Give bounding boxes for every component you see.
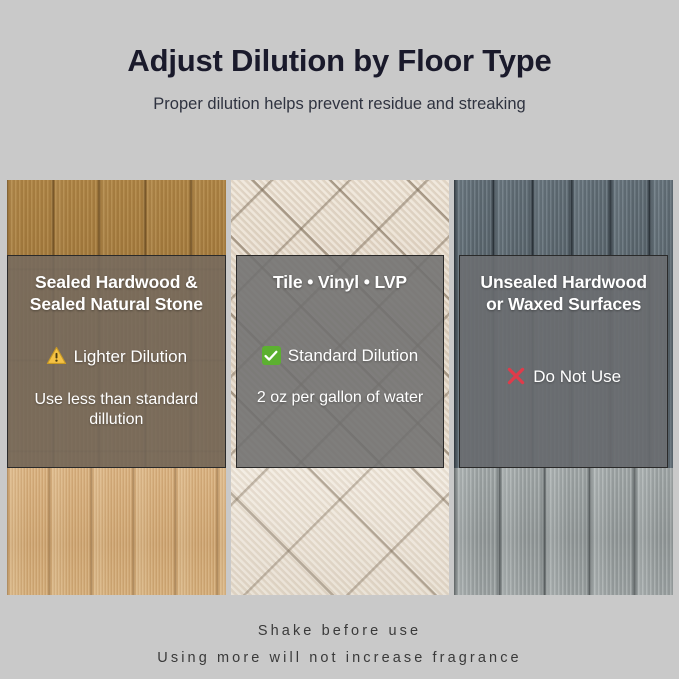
panel-status-label: Lighter Dilution <box>74 347 187 367</box>
panel-note-line-1: Use less than standard <box>35 390 199 411</box>
page-title: Adjust Dilution by Floor Type <box>0 44 679 78</box>
green-check-icon <box>262 346 281 365</box>
panel-title: Tile • Vinyl • LVP <box>265 256 415 293</box>
panel-title-line-1: Unsealed Hardwood <box>480 271 647 293</box>
footer-line-shake: Shake before use <box>0 618 679 645</box>
red-cross-icon <box>506 366 526 389</box>
panel-status: Do Not Use <box>506 366 621 389</box>
panel-status: Lighter Dilution <box>46 346 187 368</box>
panel-title-line-1: Sealed Hardwood & <box>30 271 203 293</box>
panel-title: Unsealed Hardwood or Waxed Surfaces <box>472 256 655 316</box>
panel-status-label: Do Not Use <box>533 367 621 387</box>
panel-note: Use less than standard dillution <box>21 390 213 432</box>
panel-note-line-1: 2 oz per gallon of water <box>257 388 423 409</box>
panel-note-line-2: dillution <box>35 410 199 431</box>
panel-overlay-card: Sealed Hardwood & Sealed Natural Stone L… <box>7 255 226 468</box>
panel-sealed-hardwood-stone: Sealed Hardwood & Sealed Natural Stone L… <box>7 180 226 595</box>
panel-title-line-2: or Waxed Surfaces <box>480 293 647 315</box>
warning-triangle-icon <box>46 346 67 368</box>
panel-status: Standard Dilution <box>262 346 418 366</box>
panel-status-label: Standard Dilution <box>288 346 418 366</box>
panel-tile-vinyl-lvp: Tile • Vinyl • LVP Standard Dilution 2 o… <box>231 180 450 595</box>
panel-note: 2 oz per gallon of water <box>243 388 437 409</box>
panel-title-line-2: Sealed Natural Stone <box>30 293 203 315</box>
panel-overlay-card: Unsealed Hardwood or Waxed Surfaces Do N… <box>459 255 668 468</box>
panel-title: Sealed Hardwood & Sealed Natural Stone <box>22 256 211 316</box>
panel-title-line-1: Tile • Vinyl • LVP <box>273 271 407 293</box>
floor-type-panels: Sealed Hardwood & Sealed Natural Stone L… <box>7 180 673 595</box>
page-subtitle: Proper dilution helps prevent residue an… <box>0 78 679 114</box>
panel-unsealed-waxed: Unsealed Hardwood or Waxed Surfaces Do N… <box>454 180 673 595</box>
panel-overlay-card: Tile • Vinyl • LVP Standard Dilution 2 o… <box>236 255 445 468</box>
footer: Shake before use Using more will not inc… <box>0 618 679 672</box>
footer-line-fragrance: Using more will not increase fragrance <box>0 645 679 672</box>
header: Adjust Dilution by Floor Type Proper dil… <box>0 0 679 114</box>
